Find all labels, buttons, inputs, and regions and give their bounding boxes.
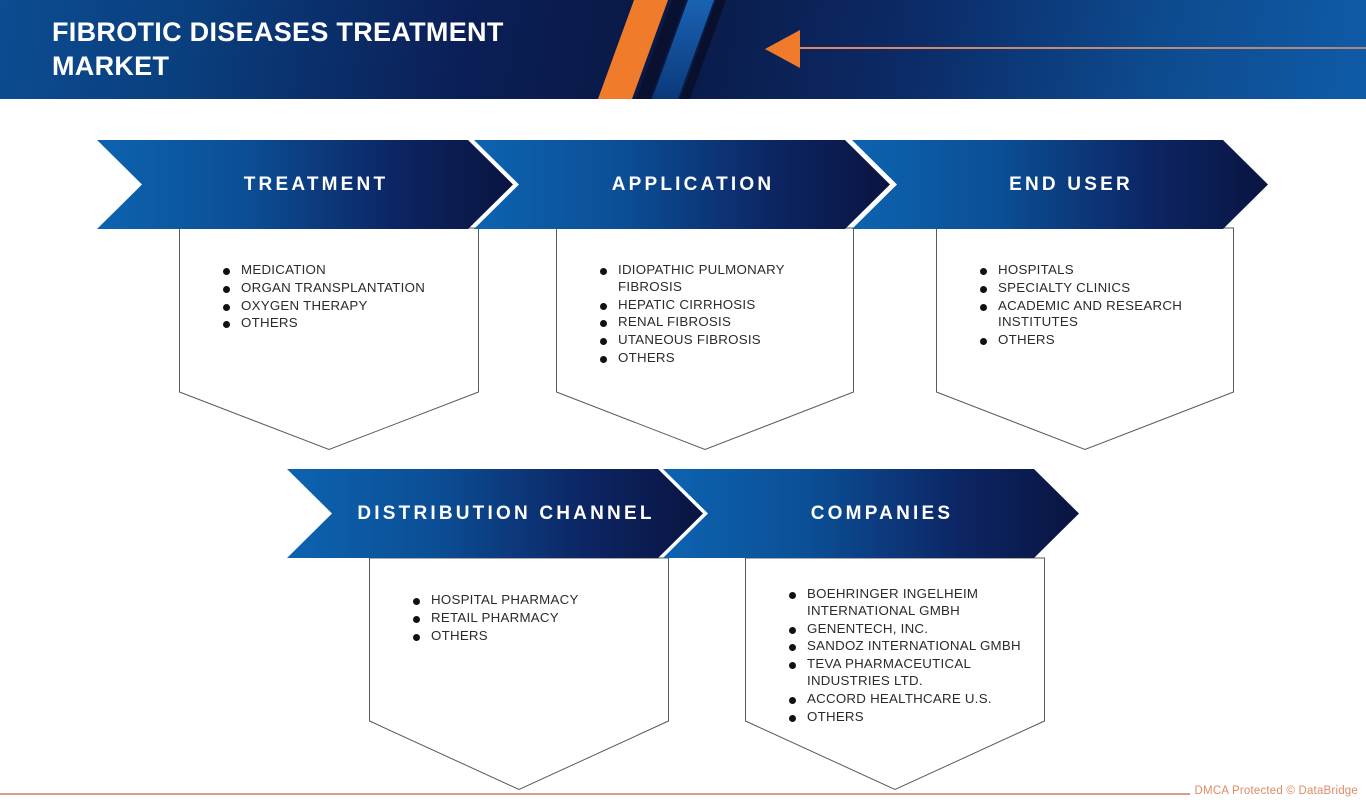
- bullet-icon: [600, 338, 607, 345]
- card-distribution-channel: HOSPITAL PHARMACYRETAIL PHARMACYOTHERS: [369, 558, 669, 790]
- chevron-treatment[interactable]: TREATMENT: [97, 140, 513, 229]
- list-item-label: ACADEMIC AND RESEARCH INSTITUTES: [998, 298, 1220, 332]
- list-item-label: UTANEOUS FIBROSIS: [618, 332, 761, 349]
- bullet-icon: [600, 320, 607, 327]
- infographic-page: FIBROTIC DISEASES TREATMENT MARKET MEDIC…: [0, 0, 1366, 808]
- list-item-label: OTHERS: [807, 709, 864, 726]
- list-item: OTHERS: [413, 628, 655, 645]
- bullet-icon: [980, 268, 987, 275]
- list-item: OTHERS: [789, 709, 1031, 726]
- list-item-label: OTHERS: [618, 350, 675, 367]
- list-item: UTANEOUS FIBROSIS: [600, 332, 840, 349]
- bullet-icon: [980, 304, 987, 311]
- list-distribution-channel: HOSPITAL PHARMACYRETAIL PHARMACYOTHERS: [413, 592, 655, 645]
- arrow-tail-line: [799, 47, 1366, 49]
- bullet-icon: [789, 697, 796, 704]
- list-end-user: HOSPITALSSPECIALTY CLINICSACADEMIC AND R…: [980, 262, 1220, 350]
- bullet-icon: [413, 634, 420, 641]
- list-item: IDIOPATHIC PULMONARY FIBROSIS: [600, 262, 840, 296]
- list-item: OTHERS: [980, 332, 1220, 349]
- bullet-icon: [223, 268, 230, 275]
- list-item-label: RETAIL PHARMACY: [431, 610, 559, 627]
- bullet-icon: [980, 286, 987, 293]
- list-item: BOEHRINGER INGELHEIM INTERNATIONAL GMBH: [789, 586, 1031, 620]
- list-item-label: OTHERS: [241, 315, 298, 332]
- list-item-label: OTHERS: [998, 332, 1055, 349]
- list-item-label: SPECIALTY CLINICS: [998, 280, 1130, 297]
- list-item: GENENTECH, INC.: [789, 621, 1031, 638]
- list-item-label: HOSPITALS: [998, 262, 1074, 279]
- list-item-label: RENAL FIBROSIS: [618, 314, 731, 331]
- chevron-companies[interactable]: COMPANIES: [663, 469, 1079, 558]
- header-banner: FIBROTIC DISEASES TREATMENT MARKET: [0, 0, 1366, 99]
- list-item: MEDICATION: [223, 262, 465, 279]
- left-arrow-icon: [765, 30, 800, 68]
- chevron-distribution-channel[interactable]: DISTRIBUTION CHANNEL: [287, 469, 703, 558]
- list-item: SPECIALTY CLINICS: [980, 280, 1220, 297]
- list-item: SANDOZ INTERNATIONAL GMBH: [789, 638, 1031, 655]
- list-item: ACCORD HEALTHCARE U.S.: [789, 691, 1031, 708]
- list-item: TEVA PHARMACEUTICAL INDUSTRIES LTD.: [789, 656, 1031, 690]
- list-item: OTHERS: [223, 315, 465, 332]
- chevron-end-user[interactable]: END USER: [852, 140, 1268, 229]
- card-companies: BOEHRINGER INGELHEIM INTERNATIONAL GMBHG…: [745, 558, 1045, 790]
- chevron-application[interactable]: APPLICATION: [474, 140, 890, 229]
- list-item-label: HEPATIC CIRRHOSIS: [618, 297, 755, 314]
- list-item-label: OXYGEN THERAPY: [241, 298, 368, 315]
- list-item-label: MEDICATION: [241, 262, 326, 279]
- list-item: ACADEMIC AND RESEARCH INSTITUTES: [980, 298, 1220, 332]
- bullet-icon: [413, 598, 420, 605]
- card-application: IDIOPATHIC PULMONARY FIBROSISHEPATIC CIR…: [556, 228, 854, 450]
- bullet-icon: [789, 662, 796, 669]
- list-item-label: BOEHRINGER INGELHEIM INTERNATIONAL GMBH: [807, 586, 1031, 620]
- bullet-icon: [600, 303, 607, 310]
- footer-divider: [0, 793, 1190, 795]
- list-treatment: MEDICATIONORGAN TRANSPLANTATIONOXYGEN TH…: [223, 262, 465, 333]
- card-end-user: HOSPITALSSPECIALTY CLINICSACADEMIC AND R…: [936, 228, 1234, 450]
- list-companies: BOEHRINGER INGELHEIM INTERNATIONAL GMBHG…: [789, 586, 1031, 726]
- list-item: OXYGEN THERAPY: [223, 298, 465, 315]
- bullet-icon: [223, 304, 230, 311]
- card-treatment: MEDICATIONORGAN TRANSPLANTATIONOXYGEN TH…: [179, 228, 479, 450]
- list-item: HOSPITALS: [980, 262, 1220, 279]
- bullet-icon: [789, 715, 796, 722]
- list-item-label: HOSPITAL PHARMACY: [431, 592, 579, 609]
- page-title: FIBROTIC DISEASES TREATMENT MARKET: [52, 15, 612, 83]
- list-application: IDIOPATHIC PULMONARY FIBROSISHEPATIC CIR…: [600, 262, 840, 368]
- list-item-label: SANDOZ INTERNATIONAL GMBH: [807, 638, 1021, 655]
- list-item: HOSPITAL PHARMACY: [413, 592, 655, 609]
- list-item: RENAL FIBROSIS: [600, 314, 840, 331]
- list-item-label: ACCORD HEALTHCARE U.S.: [807, 691, 992, 708]
- bullet-icon: [223, 321, 230, 328]
- list-item: ORGAN TRANSPLANTATION: [223, 280, 465, 297]
- dmca-watermark: DMCA Protected © DataBridge: [1195, 785, 1358, 797]
- list-item-label: TEVA PHARMACEUTICAL INDUSTRIES LTD.: [807, 656, 1031, 690]
- bullet-icon: [980, 338, 987, 345]
- list-item: HEPATIC CIRRHOSIS: [600, 297, 840, 314]
- bullet-icon: [789, 644, 796, 651]
- bullet-icon: [600, 268, 607, 275]
- list-item: OTHERS: [600, 350, 840, 367]
- list-item-label: ORGAN TRANSPLANTATION: [241, 280, 425, 297]
- bullet-icon: [223, 286, 230, 293]
- list-item-label: IDIOPATHIC PULMONARY FIBROSIS: [618, 262, 840, 296]
- list-item: RETAIL PHARMACY: [413, 610, 655, 627]
- list-item-label: OTHERS: [431, 628, 488, 645]
- bullet-icon: [789, 592, 796, 599]
- bullet-icon: [600, 356, 607, 363]
- bullet-icon: [413, 616, 420, 623]
- list-item-label: GENENTECH, INC.: [807, 621, 928, 638]
- bullet-icon: [789, 627, 796, 634]
